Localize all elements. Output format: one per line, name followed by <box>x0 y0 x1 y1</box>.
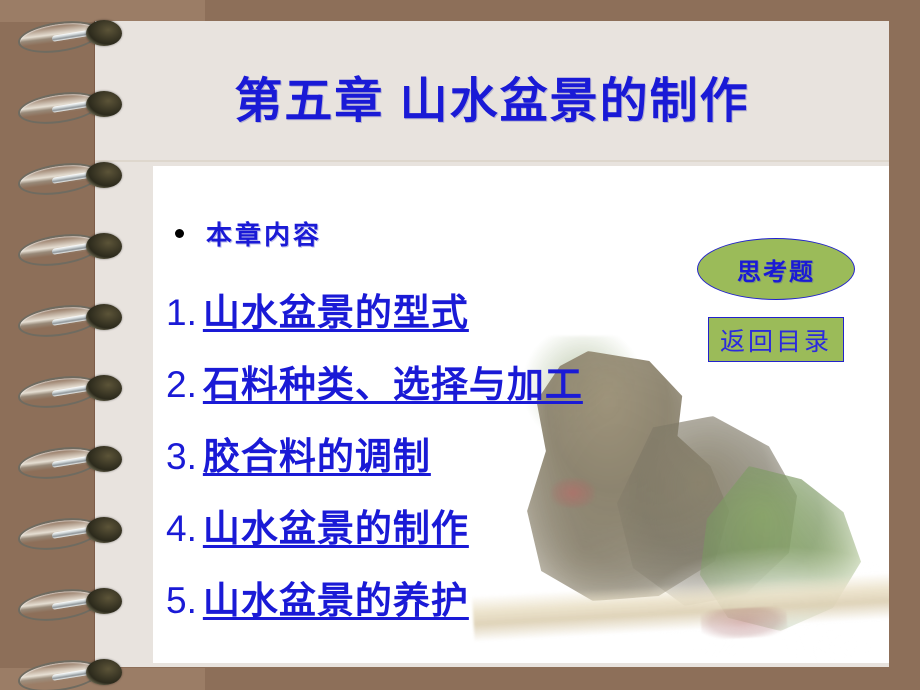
slide-canvas: 第五章 山水盆景的制作 本章内容 1. 山水盆景的型式 2. 石料种类、选择与加… <box>0 0 920 690</box>
table-of-contents: 1. 山水盆景的型式 2. 石料种类、选择与加工 3. 胶合料的调制 4. 山水… <box>166 282 766 638</box>
title-divider <box>95 160 889 162</box>
frame-corner-bottom-left <box>0 668 205 690</box>
list-item[interactable]: 1. 山水盆景的型式 <box>166 282 766 336</box>
back-to-contents-button[interactable]: 返回目录 <box>708 317 844 362</box>
list-item[interactable]: 2. 石料种类、选择与加工 <box>166 354 766 408</box>
toc-link-4[interactable]: 山水盆景的制作 <box>203 498 469 552</box>
page-title: 第五章 山水盆景的制作 <box>95 78 889 126</box>
toc-number: 3. <box>166 436 197 478</box>
back-to-contents-button-label: 返回目录 <box>720 322 832 358</box>
frame-corner-top-left <box>0 0 205 22</box>
toc-number: 2. <box>166 364 197 406</box>
list-item[interactable]: 4. 山水盆景的制作 <box>166 498 766 552</box>
questions-button[interactable]: 思考题 <box>697 238 855 300</box>
questions-button-label: 思考题 <box>737 252 815 287</box>
toc-number: 5. <box>166 580 197 622</box>
list-item[interactable]: 5. 山水盆景的养护 <box>166 570 766 624</box>
section-bullet-row: 本章内容 <box>175 215 322 252</box>
bullet-dot-icon <box>175 229 184 238</box>
toc-link-2[interactable]: 石料种类、选择与加工 <box>203 354 583 408</box>
toc-link-3[interactable]: 胶合料的调制 <box>203 426 431 480</box>
toc-number: 1. <box>166 292 197 334</box>
toc-link-1[interactable]: 山水盆景的型式 <box>203 282 469 336</box>
section-bullet-label: 本章内容 <box>206 215 322 252</box>
list-item[interactable]: 3. 胶合料的调制 <box>166 426 766 480</box>
toc-link-5[interactable]: 山水盆景的养护 <box>203 570 469 624</box>
toc-number: 4. <box>166 508 197 550</box>
